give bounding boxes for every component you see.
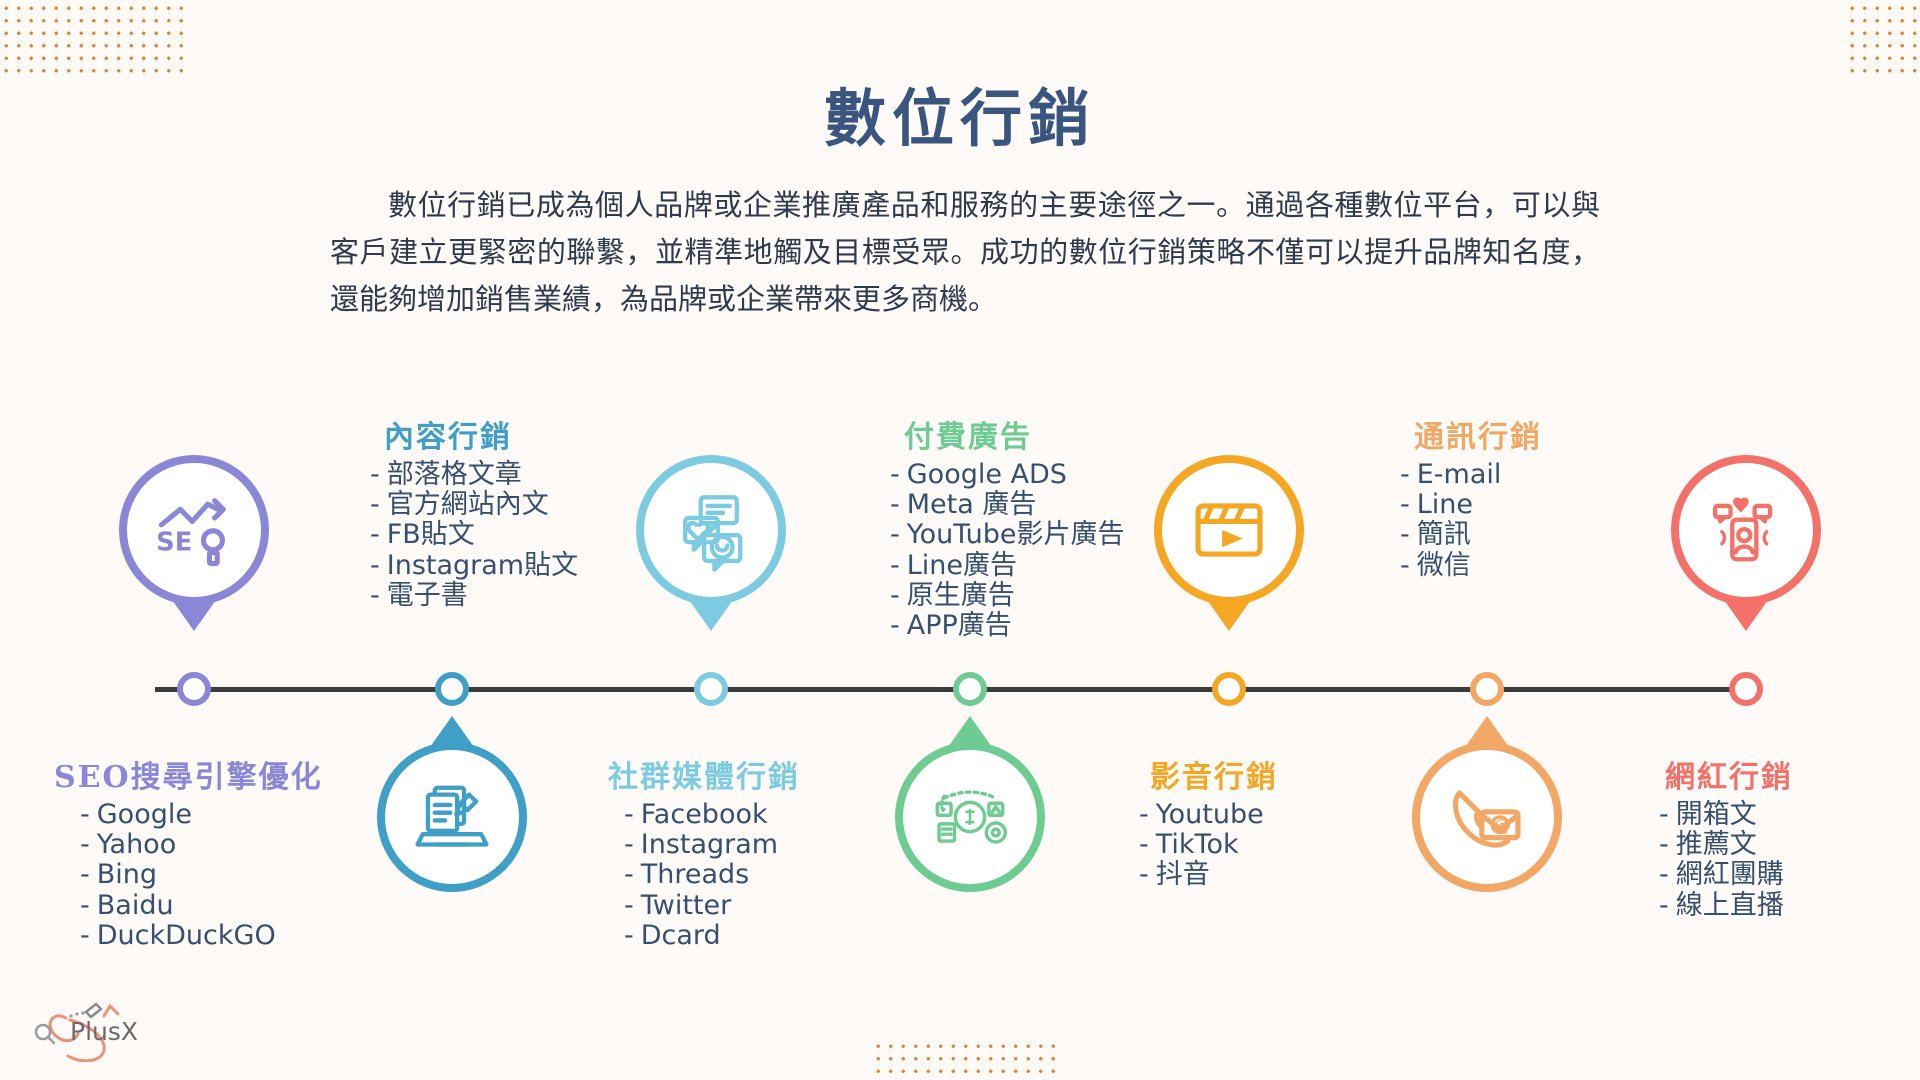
section-seo: SEO搜尋引擎優化 -Google -Yahoo -Bing -Baidu -D… [46, 752, 376, 951]
dot-pattern-top-left [0, 2, 186, 78]
section-list-influencer-marketing: -開箱文 -推薦文 -網紅團購 -線上直播 [1625, 800, 1920, 921]
section-heading-seo: SEO搜尋引擎優化 [54, 752, 376, 796]
seo-chart-icon: SE [151, 487, 237, 573]
list-item: -Dcard [624, 921, 920, 951]
pin-content-marketing-lower[interactable] [377, 742, 527, 892]
list-item: -Youtube [1139, 800, 1435, 830]
section-list-seo: -Google -Yahoo -Bing -Baidu -DuckDuckGO [46, 800, 376, 951]
document-laptop-icon [409, 774, 495, 860]
list-item: -E-mail [1400, 460, 1730, 490]
timeline-node-communication-marketing[interactable] [1470, 672, 1504, 706]
list-item: -Yahoo [80, 830, 376, 860]
timeline-node-influencer-marketing[interactable] [1729, 672, 1763, 706]
timeline-node-seo[interactable] [177, 672, 211, 706]
brand-logo[interactable]: PlusX [26, 1000, 176, 1062]
page-title: 數位行銷 [0, 68, 1920, 158]
list-item: -Baidu [80, 891, 376, 921]
list-item: -Line廣告 [890, 551, 1220, 581]
pin-seo[interactable]: SE [119, 455, 269, 605]
intro-paragraph: 數位行銷已成為個人品牌或企業推廣產品和服務的主要途徑之一。通過各種數位平台，可以… [330, 182, 1600, 323]
list-item: -Bing [80, 860, 376, 890]
section-communication-marketing: 通訊行銷 -E-mail -Line -簡訊 -微信 [1400, 412, 1730, 581]
list-item: -Twitter [624, 891, 920, 921]
list-item: -APP廣告 [890, 611, 1220, 641]
section-heading-paid-advertising: 付費廣告 [904, 412, 1220, 456]
list-item: -Meta 廣告 [890, 490, 1220, 520]
list-item: -推薦文 [1659, 830, 1920, 860]
list-item: -TikTok [1139, 830, 1435, 860]
list-item: -YouTube影片廣告 [890, 520, 1220, 550]
list-item: -FB貼文 [370, 520, 700, 550]
list-item: -部落格文章 [370, 460, 700, 490]
section-list-communication-marketing: -E-mail -Line -簡訊 -微信 [1400, 460, 1730, 581]
list-item: -原生廣告 [890, 581, 1220, 611]
svg-text:@: @ [1494, 816, 1511, 836]
section-heading-video-marketing: 影音行銷 [1150, 752, 1435, 796]
list-item: -Facebook [624, 800, 920, 830]
list-item: -簡訊 [1400, 520, 1730, 550]
timeline-node-social-media-marketing[interactable] [694, 672, 728, 706]
list-item: -Threads [624, 860, 920, 890]
section-list-video-marketing: -Youtube -TikTok -抖音 [1105, 800, 1435, 891]
section-list-social-media-marketing: -Facebook -Instagram -Threads -Twitter -… [590, 800, 920, 951]
section-influencer-marketing: 網紅行銷 -開箱文 -推薦文 -網紅團購 -線上直播 [1625, 752, 1920, 921]
section-heading-communication-marketing: 通訊行銷 [1414, 412, 1730, 456]
list-item: -Instagram貼文 [370, 551, 700, 581]
dot-pattern-bottom [872, 1040, 1062, 1074]
logo-wordmark: PlusX [70, 1017, 138, 1046]
section-video-marketing: 影音行銷 -Youtube -TikTok -抖音 [1105, 752, 1435, 891]
list-item: -Google ADS [890, 460, 1220, 490]
megaphone-ads-icon [927, 774, 1013, 860]
list-item: -電子書 [370, 581, 700, 611]
list-item: -線上直播 [1659, 891, 1920, 921]
list-item: -Instagram [624, 830, 920, 860]
infographic-canvas: 數位行銷 數位行銷已成為個人品牌或企業推廣產品和服務的主要途徑之一。通過各種數位… [0, 0, 1920, 1080]
dot-pattern-top-right [1846, 2, 1920, 78]
pencil-icon [86, 1004, 101, 1017]
svg-text:SE: SE [156, 528, 192, 558]
section-list-content-marketing: -部落格文章 -官方網站內文 -FB貼文 -Instagram貼文 -電子書 [370, 460, 700, 611]
list-item: -官方網站內文 [370, 490, 700, 520]
section-list-paid-advertising: -Google ADS -Meta 廣告 -YouTube影片廣告 -Line廣… [890, 460, 1220, 641]
list-item: -Line [1400, 490, 1730, 520]
section-paid-advertising: 付費廣告 -Google ADS -Meta 廣告 -YouTube影片廣告 -… [890, 412, 1220, 641]
list-item: -Google [80, 800, 376, 830]
list-item: -開箱文 [1659, 800, 1920, 830]
list-item: -抖音 [1139, 860, 1435, 890]
section-heading-content-marketing: 內容行銷 [384, 412, 700, 456]
section-social-media-marketing: 社群媒體行銷 -Facebook -Instagram -Threads -Tw… [590, 752, 920, 951]
pin-bubble-seo: SE [119, 455, 269, 605]
pin-bubble-content-marketing-lower [377, 742, 527, 892]
timeline-node-video-marketing[interactable] [1212, 672, 1246, 706]
list-item: -微信 [1400, 551, 1730, 581]
timeline-node-content-marketing[interactable] [435, 672, 469, 706]
list-item: -網紅團購 [1659, 860, 1920, 890]
timeline-node-paid-advertising[interactable] [953, 672, 987, 706]
list-item: -DuckDuckGO [80, 921, 376, 951]
section-heading-social-media-marketing: 社群媒體行銷 [608, 752, 920, 796]
phone-email-icon: @ [1444, 774, 1530, 860]
section-content-marketing: 內容行銷 -部落格文章 -官方網站內文 -FB貼文 -Instagram貼文 -… [370, 412, 700, 611]
section-heading-influencer-marketing: 網紅行銷 [1665, 752, 1920, 796]
